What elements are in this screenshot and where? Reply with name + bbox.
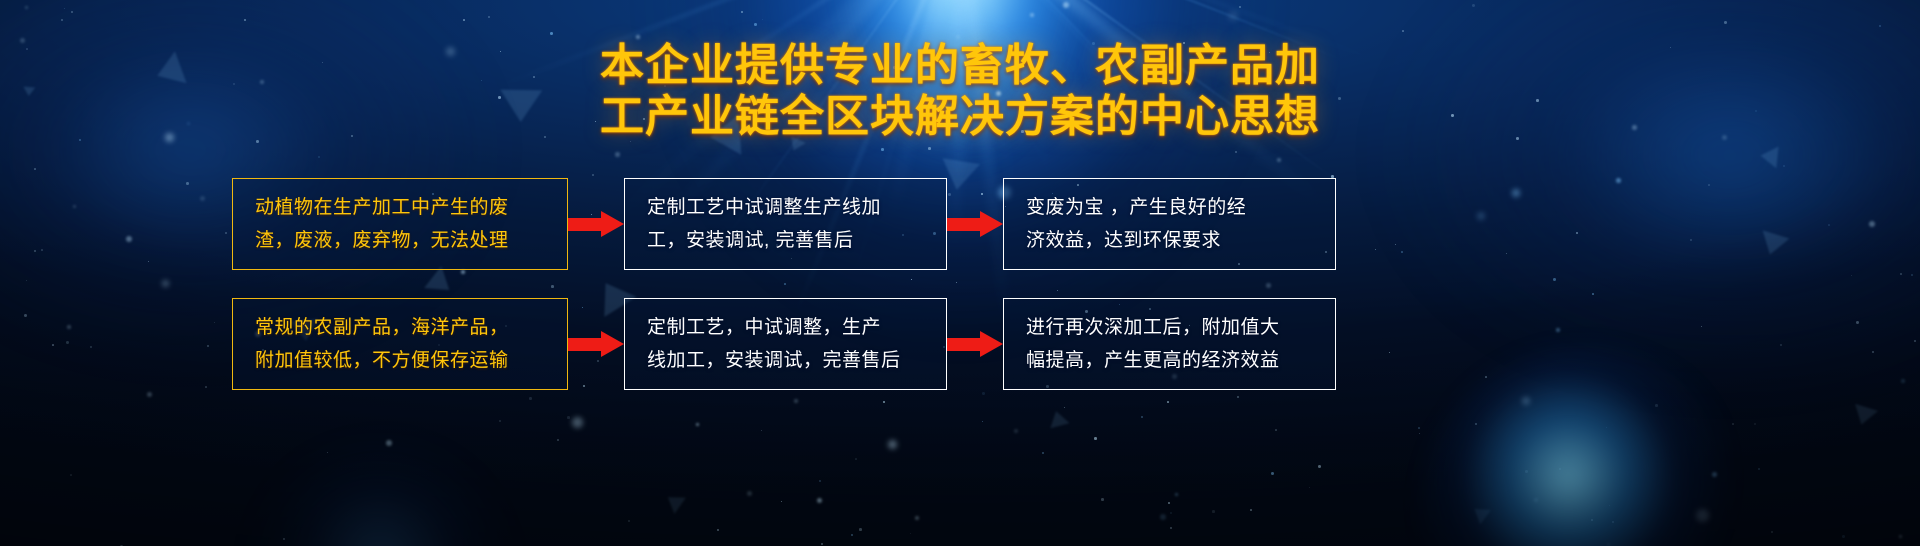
flow-text-line: 济效益，达到环保要求 <box>1026 224 1313 257</box>
flow-text-line: 幅提高，产生更高的经济效益 <box>1026 344 1313 377</box>
flow-row-1: 动植物在生产加工中产生的废 渣，废液，废弃物，无法处理 定制工艺中试调整生产线加… <box>232 178 1336 270</box>
flow-text-line: 变废为宝 ，产生良好的经 <box>1026 191 1313 224</box>
banner-title: 本企业提供专业的畜牧、农副产品加 工产业链全区块解决方案的中心思想 <box>0 40 1920 142</box>
flow-text-line: 附加值较低，不方便保存运输 <box>255 344 545 377</box>
red-right-arrow-icon <box>568 331 624 357</box>
flow-result-box-2: 进行再次深加工后，附加值大 幅提高，产生更高的经济效益 <box>1003 298 1336 390</box>
red-right-arrow-icon <box>568 211 624 237</box>
red-right-arrow-icon <box>947 211 1003 237</box>
flow-arrow-slot <box>568 211 624 237</box>
flow-arrow-slot <box>947 211 1003 237</box>
flow-arrow-slot <box>568 331 624 357</box>
flow-row-2: 常规的农副产品，海洋产品， 附加值较低，不方便保存运输 定制工艺，中试调整，生产… <box>232 298 1336 390</box>
banner-stage: 本企业提供专业的畜牧、农副产品加 工产业链全区块解决方案的中心思想 动植物在生产… <box>0 0 1920 546</box>
title-line-2: 工产业链全区块解决方案的中心思想 <box>0 91 1920 142</box>
flow-process-box-1: 定制工艺中试调整生产线加 工，安装调试, 完善售后 <box>624 178 947 270</box>
flow-text-line: 定制工艺中试调整生产线加 <box>647 191 924 224</box>
flow-text-line: 工，安装调试, 完善售后 <box>647 224 924 257</box>
flow-result-box-1: 变废为宝 ，产生良好的经 济效益，达到环保要求 <box>1003 178 1336 270</box>
flow-text-line: 线加工，安装调试，完善售后 <box>647 344 924 377</box>
flow-arrow-slot <box>947 331 1003 357</box>
title-line-1: 本企业提供专业的畜牧、农副产品加 <box>0 40 1920 91</box>
flow-text-line: 定制工艺，中试调整，生产 <box>647 311 924 344</box>
flow-problem-box-2: 常规的农副产品，海洋产品， 附加值较低，不方便保存运输 <box>232 298 568 390</box>
flow-problem-box-1: 动植物在生产加工中产生的废 渣，废液，废弃物，无法处理 <box>232 178 568 270</box>
flow-process-box-2: 定制工艺，中试调整，生产 线加工，安装调试，完善售后 <box>624 298 947 390</box>
flow-text-line: 渣，废液，废弃物，无法处理 <box>255 224 545 257</box>
red-right-arrow-icon <box>947 331 1003 357</box>
flow-text-line: 动植物在生产加工中产生的废 <box>255 191 545 224</box>
flow-text-line: 进行再次深加工后，附加值大 <box>1026 311 1313 344</box>
flow-text-line: 常规的农副产品，海洋产品， <box>255 311 545 344</box>
process-flow-diagram: 动植物在生产加工中产生的废 渣，废液，废弃物，无法处理 定制工艺中试调整生产线加… <box>232 178 1336 390</box>
